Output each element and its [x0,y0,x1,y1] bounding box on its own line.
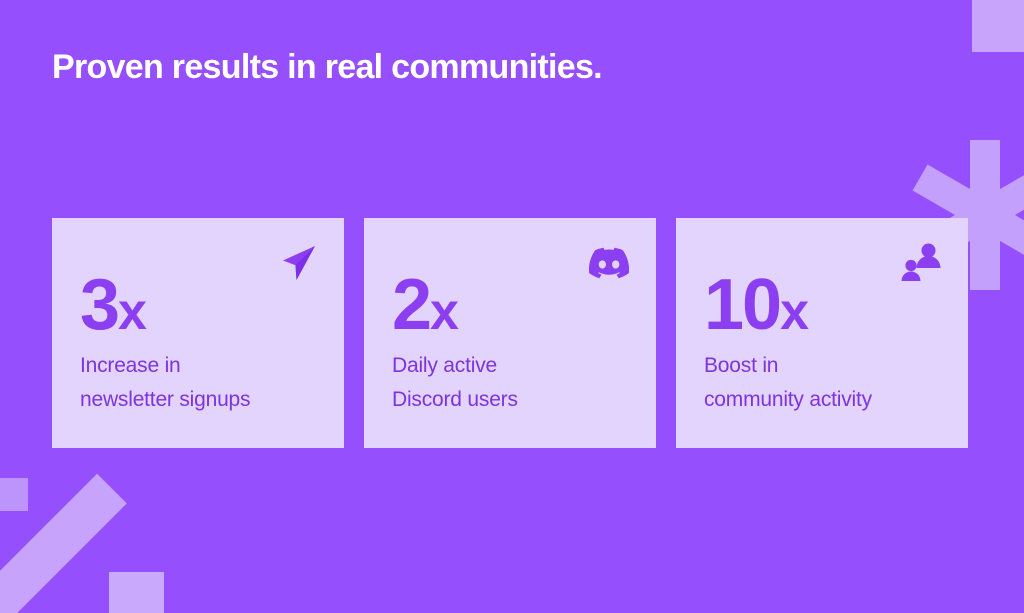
stat-suffix: x [780,283,808,341]
stat-caption-line: Boost in [704,349,940,383]
stat-suffix: x [118,283,146,341]
stat-caption: Boost in community activity [704,349,940,417]
send-icon [274,240,320,286]
stat-card-community-activity: 10x Boost in community activity [676,218,968,448]
stat-caption-line: newsletter signups [80,383,316,417]
stat-card-newsletter-signups: 3x Increase in newsletter signups [52,218,344,448]
stat-card-list: 3x Increase in newsletter signups 2x Dai… [52,218,968,448]
stat-caption-line: community activity [704,383,940,417]
stat-caption: Daily active Discord users [392,349,628,417]
stat-number: 2 [392,265,430,345]
stat-card-discord-users: 2x Daily active Discord users [364,218,656,448]
stat-caption-line: Discord users [392,383,628,417]
page-title: Proven results in real communities. [52,48,602,87]
people-icon [898,240,944,286]
stat-caption-line: Daily active [392,349,628,383]
stat-suffix: x [430,283,458,341]
discord-icon [586,240,632,286]
stat-caption: Increase in newsletter signups [80,349,316,417]
stat-number: 10 [704,265,780,345]
stats-section: Proven results in real communities. 3x I… [0,0,1024,613]
stat-caption-line: Increase in [80,349,316,383]
stat-number: 3 [80,265,118,345]
